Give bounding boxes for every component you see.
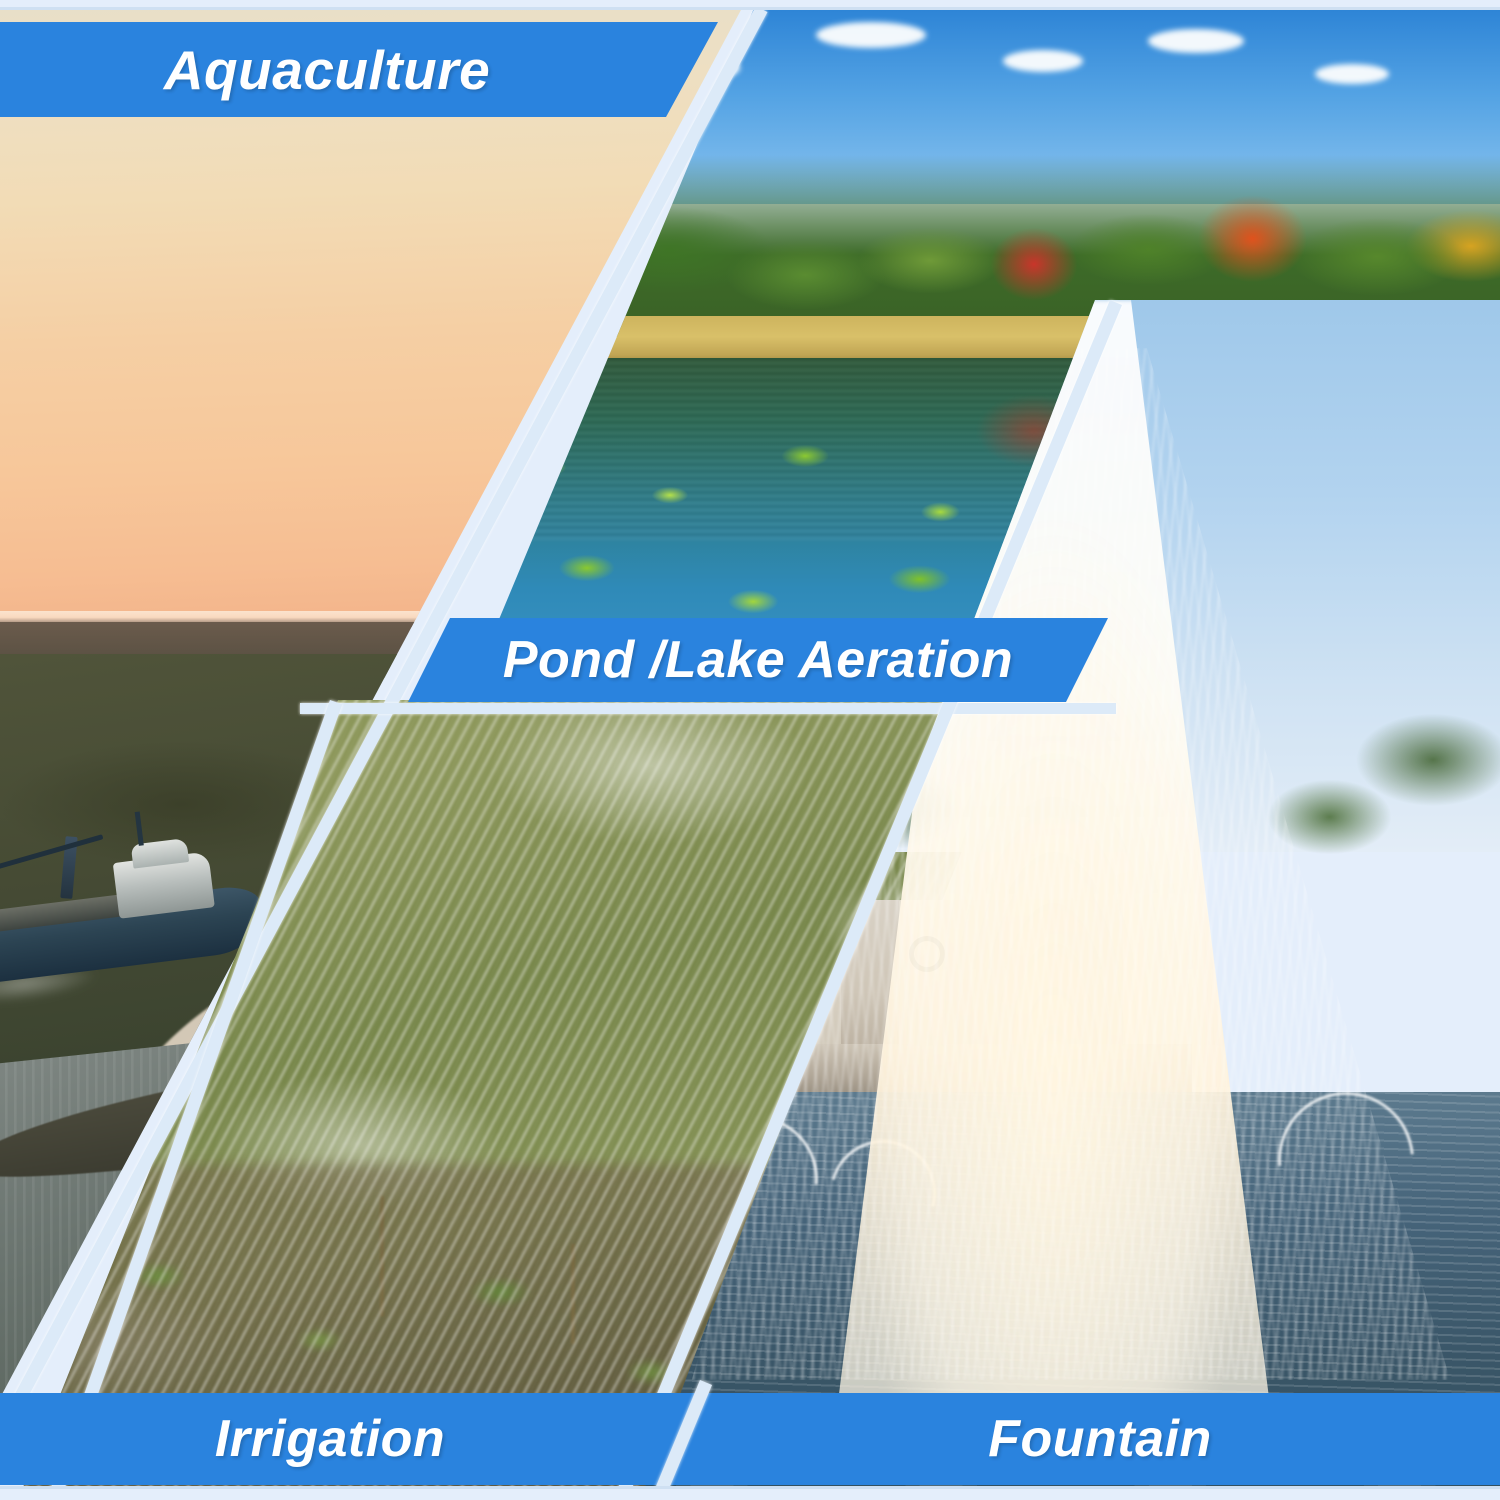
application-collage: Aquaculture Pond /Lake Aeration Irrigati… [0,0,1500,1500]
label-banner-fountain[interactable]: Fountain [660,1393,1500,1485]
ship-crane-boom [0,834,103,871]
label-irrigation: Irrigation [215,1409,445,1469]
divider-pond-irrigation [300,703,1116,714]
frame-hairline [0,1486,1500,1489]
frame-top-edge [0,0,1500,10]
frame-hairline [0,7,1500,10]
label-aquaculture: Aquaculture [164,38,490,102]
label-pond-lake-aeration: Pond /Lake Aeration [503,630,1013,690]
cloud [1148,29,1244,53]
label-banner-aquaculture[interactable]: Aquaculture [0,22,718,117]
cloud [1315,64,1389,84]
frame-bottom-edge [0,1486,1500,1500]
cloud [1003,50,1083,72]
label-banner-irrigation[interactable]: Irrigation [0,1393,740,1485]
label-fountain: Fountain [988,1409,1212,1469]
label-banner-pond-lake-aeration[interactable]: Pond /Lake Aeration [408,618,1108,702]
cloud [816,22,926,48]
